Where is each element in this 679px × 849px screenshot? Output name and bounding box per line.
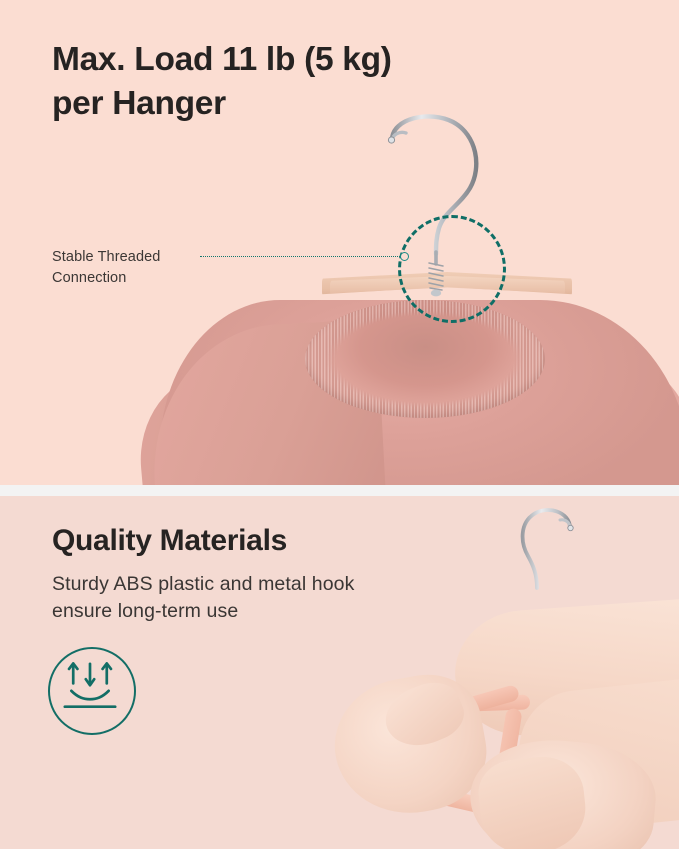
quality-materials-subtitle: Sturdy ABS plastic and metal hook ensure…: [52, 571, 354, 625]
infographic-page: Stable Threaded Connection Max. Load 11 …: [0, 0, 679, 849]
panel-divider: [0, 485, 679, 496]
sweatshirt-collar-ribbing: [305, 300, 545, 418]
page-title-max-load: Max. Load 11 lb (5 kg) per Hanger: [52, 38, 392, 126]
page-title-quality-materials: Quality Materials: [52, 522, 287, 560]
hanger-metal-hook-icon: [480, 502, 590, 612]
highlight-ring: [398, 215, 506, 323]
panel-quality-materials: Quality Materials Sturdy ABS plastic and…: [0, 496, 679, 849]
leader-endpoint-marker: [400, 252, 409, 261]
panel-max-load: Stable Threaded Connection Max. Load 11 …: [0, 0, 679, 485]
durability-flex-icon: [48, 647, 136, 735]
annotation-label: Stable Threaded Connection: [52, 247, 160, 289]
leader-line: [200, 256, 404, 258]
